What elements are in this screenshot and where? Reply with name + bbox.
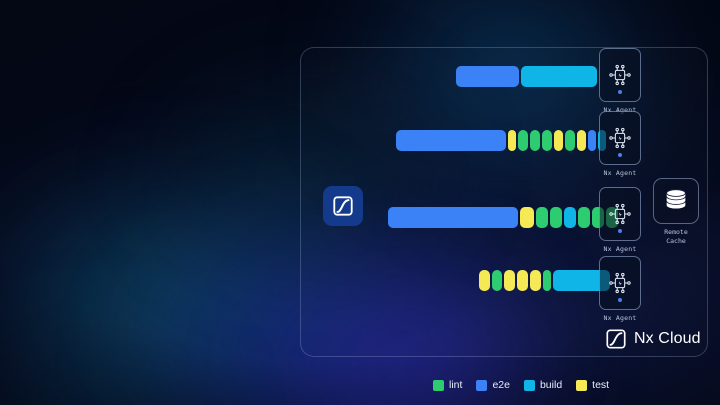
task-segment-e2e[interactable]	[456, 66, 519, 87]
task-segment-lint[interactable]	[518, 130, 528, 151]
task-segment-e2e[interactable]	[388, 207, 518, 228]
legend-item-lint: lint	[433, 379, 462, 391]
legend-label-e2e: e2e	[492, 379, 510, 391]
task-segment-lint[interactable]	[530, 130, 540, 151]
nx-logo-icon	[332, 195, 354, 217]
agent-status-dot	[618, 229, 622, 233]
nx-logo-icon	[605, 328, 627, 350]
diagram-canvas: Nx Agent Nx Agent	[0, 0, 720, 405]
legend-label-lint: lint	[449, 379, 462, 391]
task-segment-build[interactable]	[564, 207, 576, 228]
agent-status-dot	[618, 298, 622, 302]
remote-cache-label: Remote Cache	[653, 228, 699, 245]
task-segment-lint[interactable]	[578, 207, 590, 228]
remote-cache-label-line1: Remote	[664, 228, 687, 236]
nx-agent-label: Nx Agent	[599, 245, 641, 253]
task-row-1	[456, 66, 597, 87]
legend-swatch-lint	[433, 380, 444, 391]
task-segment-e2e[interactable]	[588, 130, 596, 151]
nx-agent-card-1[interactable]: Nx Agent	[599, 48, 641, 114]
nx-agent-card-3[interactable]: Nx Agent	[599, 187, 641, 253]
task-segment-e2e[interactable]	[396, 130, 506, 151]
nx-agent-label: Nx Agent	[599, 169, 641, 177]
task-row-3	[388, 207, 618, 228]
legend-item-test: test	[576, 379, 609, 391]
task-segment-lint[interactable]	[542, 130, 552, 151]
task-segment-test[interactable]	[554, 130, 563, 151]
task-segment-build[interactable]	[521, 66, 597, 87]
task-segment-test[interactable]	[504, 270, 515, 291]
task-segment-test[interactable]	[520, 207, 534, 228]
task-segment-lint[interactable]	[543, 270, 551, 291]
nx-agent-label: Nx Agent	[599, 314, 641, 322]
remote-cache-label-line2: Cache	[666, 237, 686, 245]
legend: lint e2e build test	[433, 379, 609, 391]
nx-logo-badge	[323, 186, 363, 226]
task-segment-lint[interactable]	[492, 270, 502, 291]
nx-agent-card-4[interactable]: Nx Agent	[599, 256, 641, 322]
agent-status-dot	[618, 153, 622, 157]
agent-status-dot	[618, 90, 622, 94]
task-segment-test[interactable]	[530, 270, 541, 291]
legend-item-e2e: e2e	[476, 379, 510, 391]
legend-swatch-e2e	[476, 380, 487, 391]
database-stack-icon	[653, 178, 699, 224]
task-segment-lint[interactable]	[550, 207, 562, 228]
legend-label-test: test	[592, 379, 609, 391]
task-segment-lint[interactable]	[536, 207, 548, 228]
task-segment-lint[interactable]	[565, 130, 575, 151]
nx-cloud-label: Nx Cloud	[634, 330, 701, 348]
legend-swatch-build	[524, 380, 535, 391]
task-row-2	[396, 130, 606, 151]
legend-item-build: build	[524, 379, 562, 391]
task-segment-test[interactable]	[479, 270, 490, 291]
task-segment-test[interactable]	[517, 270, 528, 291]
nx-cloud-brand[interactable]: Nx Cloud	[605, 328, 701, 350]
legend-label-build: build	[540, 379, 562, 391]
task-segment-test[interactable]	[508, 130, 516, 151]
remote-cache-card[interactable]: Remote Cache	[653, 178, 699, 245]
legend-swatch-test	[576, 380, 587, 391]
task-row-4	[479, 270, 610, 291]
task-segment-test[interactable]	[577, 130, 586, 151]
nx-agent-card-2[interactable]: Nx Agent	[599, 111, 641, 177]
